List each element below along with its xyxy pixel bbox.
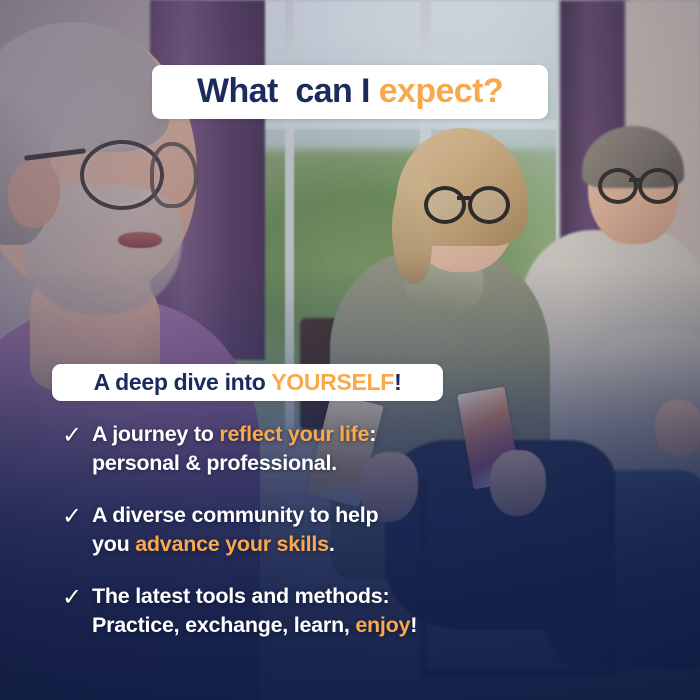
checkmark-icon: ✓ [62,582,92,612]
page-title: What can I expect? [197,74,503,110]
bullet-3-line1-a: The latest tools and methods: [92,584,389,608]
list-item: ✓ The latest tools and methods: Practice… [62,582,532,639]
checkmark-icon: ✓ [62,501,92,531]
bullet-1-line1-b: reflect your life [219,422,369,446]
bullet-3-line2-c: ! [410,613,417,637]
benefits-list: ✓ A journey to reflect your life: person… [62,420,532,640]
bullet-2-line2-a: you [92,532,135,556]
list-item-text: The latest tools and methods: Practice, … [92,582,417,639]
subheadline-part-1: A deep dive into [94,369,272,395]
bullet-2-line2-c: . [329,532,335,556]
headline-part-2: expect? [379,72,503,110]
bullet-1-line1-a: A journey to [92,422,219,446]
headline-part-1: What can I [197,72,379,110]
headline-band: What can I expect? [152,65,548,119]
list-item-text: A diverse community to help you advance … [92,501,378,558]
bullet-1-line2-a: personal & professional. [92,451,337,475]
subheadline-part-3: ! [394,369,401,395]
bullet-2-line1-a: A diverse community to help [92,503,378,527]
subheadline: A deep dive into YOURSELF! [94,371,402,395]
subheadline-part-2: YOURSELF [271,369,394,395]
bullet-2-line2-b: advance your skills [135,532,329,556]
subheadline-band: A deep dive into YOURSELF! [52,364,443,401]
list-item: ✓ A diverse community to help you advanc… [62,501,532,558]
bullet-1-line1-c: : [369,422,376,446]
list-item: ✓ A journey to reflect your life: person… [62,420,532,477]
list-item-text: A journey to reflect your life: personal… [92,420,376,477]
bullet-3-line2-b: enjoy [355,613,410,637]
bullet-3-line2-a: Practice, exchange, learn, [92,613,355,637]
checkmark-icon: ✓ [62,420,92,450]
promo-poster: What can I expect? A deep dive into YOUR… [0,0,700,700]
poster-content: What can I expect? A deep dive into YOUR… [0,0,700,700]
